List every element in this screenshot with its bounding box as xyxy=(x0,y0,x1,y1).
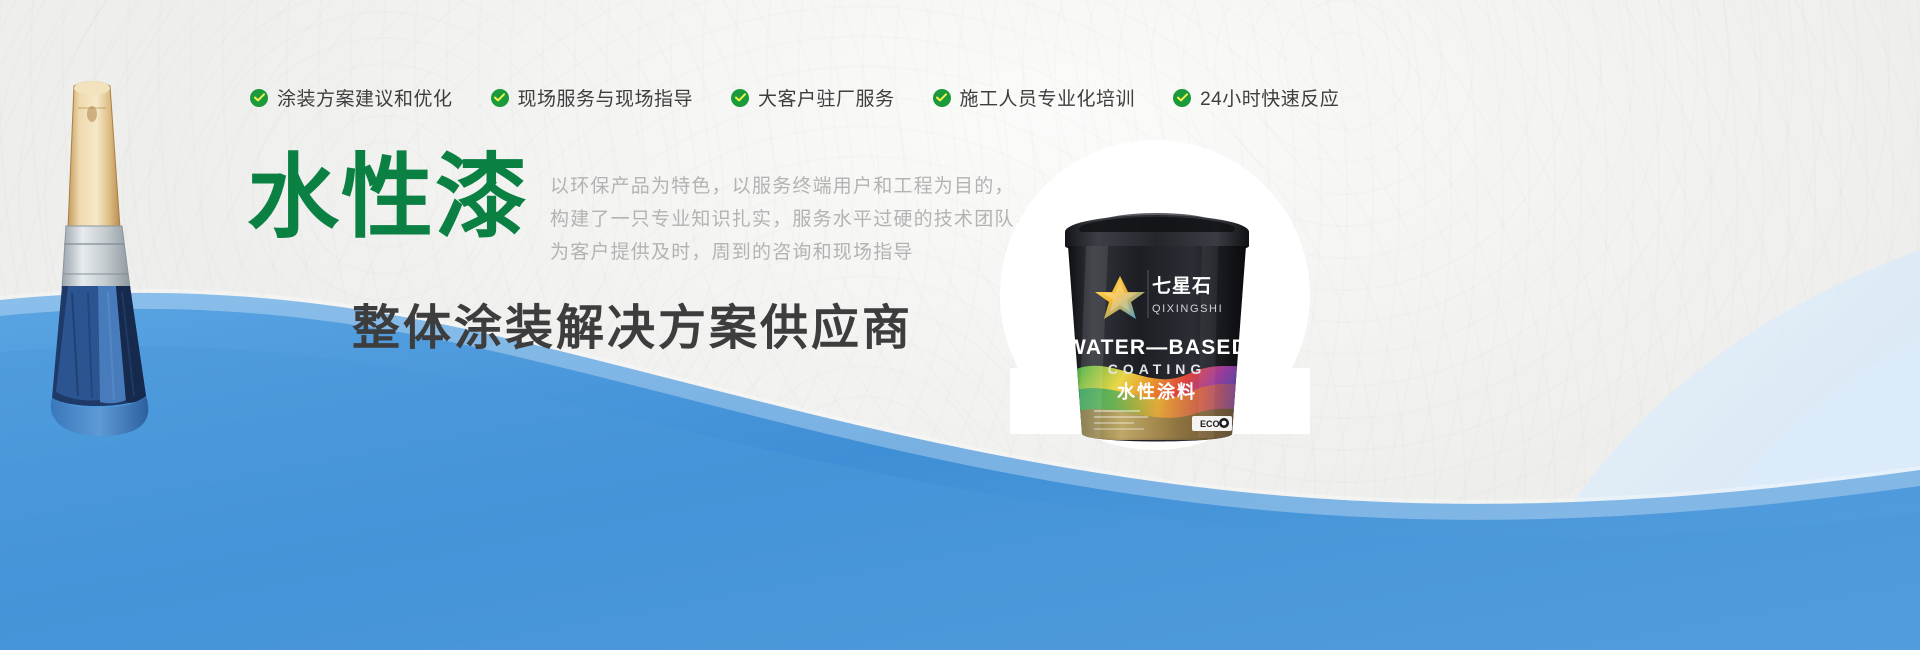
check-circle-icon xyxy=(933,89,951,107)
feature-list: 涂装方案建议和优化 现场服务与现场指导 大客户驻厂服务 施工人员专业化培训 24… xyxy=(250,84,1339,111)
feature-label: 大客户驻厂服务 xyxy=(758,84,895,111)
brush-handle-top xyxy=(74,81,110,95)
svg-text:ECO: ECO xyxy=(1200,419,1220,429)
description-block: 以环保产品为特色，以服务终端用户和工程为目的， 构建了一只专业知识扎实，服务水平… xyxy=(550,170,1035,269)
hero-banner: 涂装方案建议和优化 现场服务与现场指导 大客户驻厂服务 施工人员专业化培训 24… xyxy=(0,0,1920,650)
page-title: 水性漆 xyxy=(247,152,529,244)
feature-label: 涂装方案建议和优化 xyxy=(277,84,453,111)
paint-bucket: 七星石 QIXINGSHI WATER—BASED COATING 水性涂料 E… xyxy=(1042,188,1272,458)
feature-item[interactable]: 涂装方案建议和优化 xyxy=(250,84,453,111)
brush-handle xyxy=(68,82,120,229)
paint-brush xyxy=(38,78,258,438)
product-subtitle-en: COATING xyxy=(1108,361,1207,377)
check-circle-icon xyxy=(491,89,509,107)
eco-badge: ECO xyxy=(1192,416,1232,431)
feature-item[interactable]: 施工人员专业化培训 xyxy=(933,84,1136,111)
feature-label: 24小时快速反应 xyxy=(1200,84,1339,111)
feature-label: 现场服务与现场指导 xyxy=(518,84,694,111)
check-circle-icon xyxy=(1173,89,1191,107)
brand-name-en: QIXINGSHI xyxy=(1152,303,1223,315)
feature-item[interactable]: 大客户驻厂服务 xyxy=(731,84,895,111)
description-line: 为客户提供及时，周到的咨询和现场指导 xyxy=(550,236,1035,269)
description-line: 构建了一只专业知识扎实，服务水平过硬的技术团队， xyxy=(550,203,1035,236)
product-title-cn: 水性涂料 xyxy=(1117,381,1197,402)
brush-hang-hole xyxy=(87,106,97,122)
brand-name-cn: 七星石 xyxy=(1152,275,1212,297)
check-circle-icon xyxy=(250,89,268,107)
brush-ferrule xyxy=(62,226,130,288)
feature-item[interactable]: 现场服务与现场指导 xyxy=(491,84,694,111)
subtitle: 整体涂装解决方案供应商 xyxy=(352,288,913,358)
feature-item[interactable]: 24小时快速反应 xyxy=(1173,84,1339,111)
feature-label: 施工人员专业化培训 xyxy=(960,84,1136,111)
check-circle-icon xyxy=(731,89,749,107)
product-title-en: WATER—BASED xyxy=(1066,336,1248,359)
product-showcase: 七星石 QIXINGSHI WATER—BASED COATING 水性涂料 E… xyxy=(1000,140,1330,450)
description-line: 以环保产品为特色，以服务终端用户和工程为目的， xyxy=(550,170,1035,203)
